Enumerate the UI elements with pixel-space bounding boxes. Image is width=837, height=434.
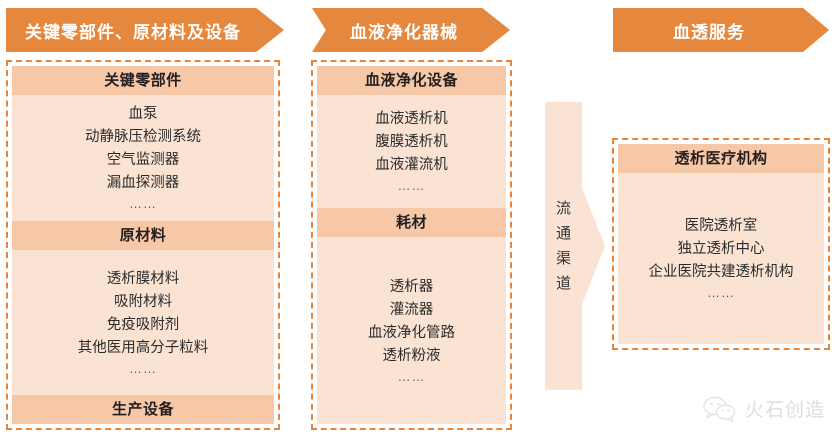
banner-downstream-label: 血透服务: [673, 18, 745, 43]
section-header-purification-equipment: 血液净化设备: [317, 66, 506, 95]
section-body-purification-equipment: 血液透析机 腹膜透析机 血液灌流机 ……: [317, 95, 506, 208]
flow-channel-char: 通: [556, 221, 571, 246]
list-item: 企业医院共建透析机构: [649, 261, 794, 284]
flow-channel-char: 道: [556, 271, 571, 296]
list-item: 医院透析室: [685, 215, 758, 238]
list-item: 其他医用高分子粒料: [78, 337, 209, 360]
flow-channel-char: 流: [556, 196, 571, 221]
column-midstream: 血液净化设备 血液透析机 腹膜透析机 血液灌流机 …… 耗材 透析器 灌流器 血…: [311, 60, 512, 430]
section-header-raw-materials: 原材料: [12, 221, 274, 250]
list-ellipsis: ……: [129, 195, 157, 213]
section-header-dialysis-institutions: 透析医疗机构: [618, 144, 824, 173]
list-item: 血泵: [129, 103, 158, 126]
banner-midstream-label: 血液净化器械: [350, 18, 458, 43]
list-item: 透析粉液: [383, 345, 441, 368]
list-item: 漏血探测器: [107, 172, 180, 195]
list-item: 血液灌流机: [375, 154, 448, 177]
list-item: 动静脉压检测系统: [85, 126, 201, 149]
watermark-text: 火石创造: [745, 395, 825, 422]
banner-upstream: 关键零部件、原材料及设备: [6, 8, 284, 52]
list-item: 空气监测器: [107, 149, 180, 172]
list-item: 透析器: [390, 276, 434, 299]
column-downstream: 透析医疗机构 医院透析室 独立透析中心 企业医院共建透析机构 ……: [612, 138, 830, 350]
section-body-raw-materials: 透析膜材料 吸附材料 免疫吸附剂 其他医用高分子粒料 ……: [12, 250, 274, 395]
list-ellipsis: ……: [398, 177, 426, 195]
wechat-icon: [703, 396, 737, 422]
flow-channel-char: 渠: [556, 246, 571, 271]
list-item: 腹膜透析机: [375, 131, 448, 154]
list-item: 血液净化管路: [368, 322, 455, 345]
list-item: 吸附材料: [114, 291, 172, 314]
flow-channel-label: 流 通 渠 道: [545, 102, 582, 390]
watermark: 火石创造: [703, 395, 825, 422]
section-header-key-components: 关键零部件: [12, 66, 274, 95]
list-item: 独立透析中心: [678, 238, 765, 261]
column-upstream: 关键零部件 血泵 动静脉压检测系统 空气监测器 漏血探测器 …… 原材料 透析膜…: [6, 60, 280, 430]
list-item: 血液透析机: [375, 108, 448, 131]
banner-downstream: 血透服务: [613, 8, 829, 52]
section-header-consumables: 耗材: [317, 208, 506, 237]
section-body-consumables: 透析器 灌流器 血液净化管路 透析粉液 ……: [317, 237, 506, 424]
list-ellipsis: ……: [398, 368, 426, 386]
list-ellipsis: ……: [707, 284, 735, 302]
flow-channel-arrow: 流 通 渠 道: [545, 102, 605, 390]
section-body-dialysis-institutions: 医院透析室 独立透析中心 企业医院共建透析机构 ……: [618, 173, 824, 344]
section-header-production-equipment: 生产设备: [12, 395, 274, 424]
list-item: 免疫吸附剂: [107, 314, 180, 337]
list-ellipsis: ……: [129, 360, 157, 378]
list-item: 灌流器: [390, 299, 434, 322]
list-item: 透析膜材料: [107, 268, 180, 291]
section-body-key-components: 血泵 动静脉压检测系统 空气监测器 漏血探测器 ……: [12, 95, 274, 221]
banner-upstream-label: 关键零部件、原材料及设备: [25, 18, 241, 43]
banner-midstream: 血液净化器械: [312, 8, 510, 52]
